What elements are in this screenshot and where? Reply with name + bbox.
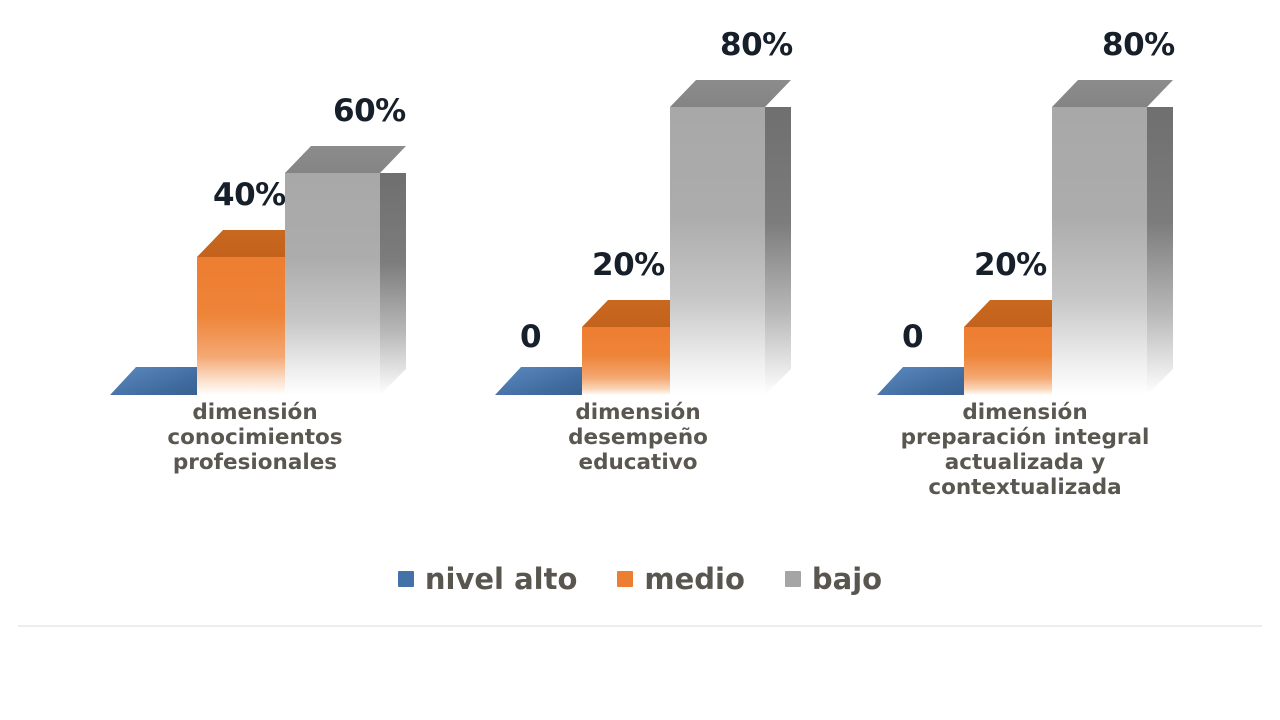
legend-item-medio[interactable]: medio [617,565,745,594]
legend-label: bajo [812,565,882,594]
bar-group-2-series-medio[interactable] [964,327,1059,395]
legend-label: nivel alto [425,565,578,594]
value-label-g1-alto: 0 [520,319,541,355]
bar-side-face [380,173,406,395]
category-label-2: dimensión preparación integral actualiza… [855,400,1195,500]
bar-group-2: 0 20% 80% [862,0,1192,395]
bar-group-1-series-medio[interactable] [582,327,677,395]
bar-side-face [1147,107,1173,395]
value-label-g2-medio: 20% [974,247,1047,283]
bar-front-face [582,327,677,395]
legend-item-bajo[interactable]: bajo [785,565,882,594]
value-label-g1-medio: 20% [592,247,665,283]
footer-divider [18,625,1262,627]
bar-group-2-series-bajo[interactable] [1052,107,1147,395]
chart-root: 0 40% 60% 0 [0,0,1280,720]
value-label-g0-bajo: 60% [333,93,406,129]
bar-group-2-series-alto[interactable] [877,385,972,395]
bar-top-face [670,80,791,107]
bar-front-face [285,173,380,395]
category-axis: dimensión conocimientos profesionales di… [0,396,1280,536]
bar-group-0-series-alto[interactable] [110,385,205,395]
bar-front-face [197,257,292,395]
legend-item-nivel-alto[interactable]: nivel alto [398,565,578,594]
bar-group-0-series-medio[interactable] [197,257,292,395]
value-label-g2-bajo: 80% [1102,27,1175,63]
bar-front-face [670,107,765,395]
bar-group-1: 0 20% 80% [480,0,810,395]
bar-top-face [285,146,406,173]
bar-group-1-series-alto[interactable] [495,385,590,395]
category-label-1: dimensión desempeño educativo [478,400,798,475]
legend-swatch-icon [785,571,801,587]
value-label-g0-medio: 40% [213,177,286,213]
value-label-g2-alto: 0 [902,319,923,355]
plot-area: 0 40% 60% 0 [0,0,1280,395]
bar-top-face [1052,80,1173,107]
legend-label: medio [644,565,745,594]
legend-swatch-icon [398,571,414,587]
bar-side-face [765,107,791,395]
bar-group-0: 0 40% 60% [95,0,425,395]
bar-group-0-series-bajo[interactable] [285,173,380,395]
bar-group-1-series-bajo[interactable] [670,107,765,395]
value-label-g1-bajo: 80% [720,27,793,63]
category-label-0: dimensión conocimientos profesionales [95,400,415,475]
bar-front-face [964,327,1059,395]
bar-front-face [1052,107,1147,395]
chart-legend: nivel alto medio bajo [0,555,1280,603]
legend-swatch-icon [617,571,633,587]
